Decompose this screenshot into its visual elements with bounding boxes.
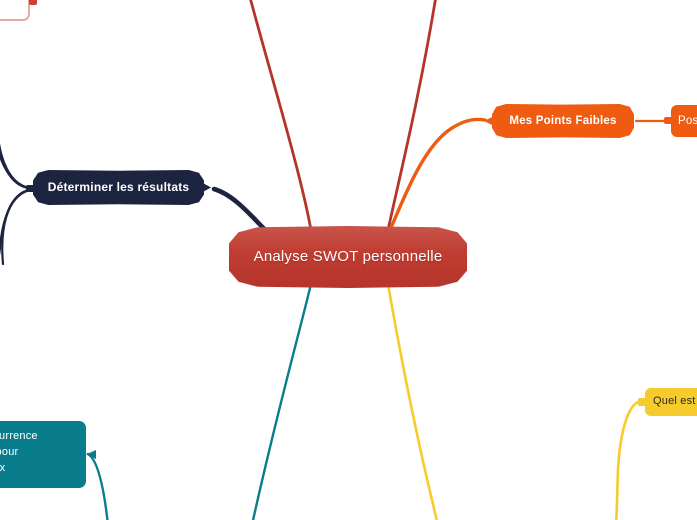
edge-central-yellow xyxy=(388,284,438,520)
edge-teal-branch xyxy=(88,454,108,520)
edge-navy-loop xyxy=(0,104,29,262)
node-navy-label: Déterminer les résultats xyxy=(48,180,190,195)
node-teal-clipped[interactable]: concurrence lois pour mieux xyxy=(0,421,86,488)
node-determiner-les-resultats[interactable]: Déterminer les résultats xyxy=(33,170,204,205)
edge-central-red-up-left xyxy=(248,0,311,230)
edge-central-orange xyxy=(388,119,485,234)
node-analyse-swot-personnelle[interactable]: Analyse SWOT personnelle xyxy=(229,226,467,288)
node-orange-label: Mes Points Faibles xyxy=(509,114,616,128)
node-red-clipped-connector-nub xyxy=(29,0,37,5)
node-red-clipped[interactable] xyxy=(0,0,30,21)
edge-central-teal xyxy=(252,284,311,520)
edge-navy-loop-curve-2 xyxy=(2,190,30,264)
node-mes-points-faibles[interactable]: Mes Points Faibles xyxy=(492,104,634,138)
edge-navy-loop-curve xyxy=(0,112,30,188)
node-orange-clipped-label: Pos xyxy=(678,114,697,128)
mindmap-canvas[interactable]: Déterminer les résultats Analyse SWOT pe… xyxy=(0,0,697,520)
node-yellow-clipped-label: Quel est l xyxy=(653,395,697,409)
node-yellow-clipped[interactable]: Quel est l xyxy=(645,388,697,416)
node-orange-clipped[interactable]: Pos xyxy=(671,105,697,137)
node-teal-clipped-label: concurrence lois pour mieux xyxy=(0,429,38,477)
node-central-label: Analyse SWOT personnelle xyxy=(254,248,443,267)
edge-central-red-up-right xyxy=(388,0,437,230)
edge-yellow-branch xyxy=(616,401,641,520)
